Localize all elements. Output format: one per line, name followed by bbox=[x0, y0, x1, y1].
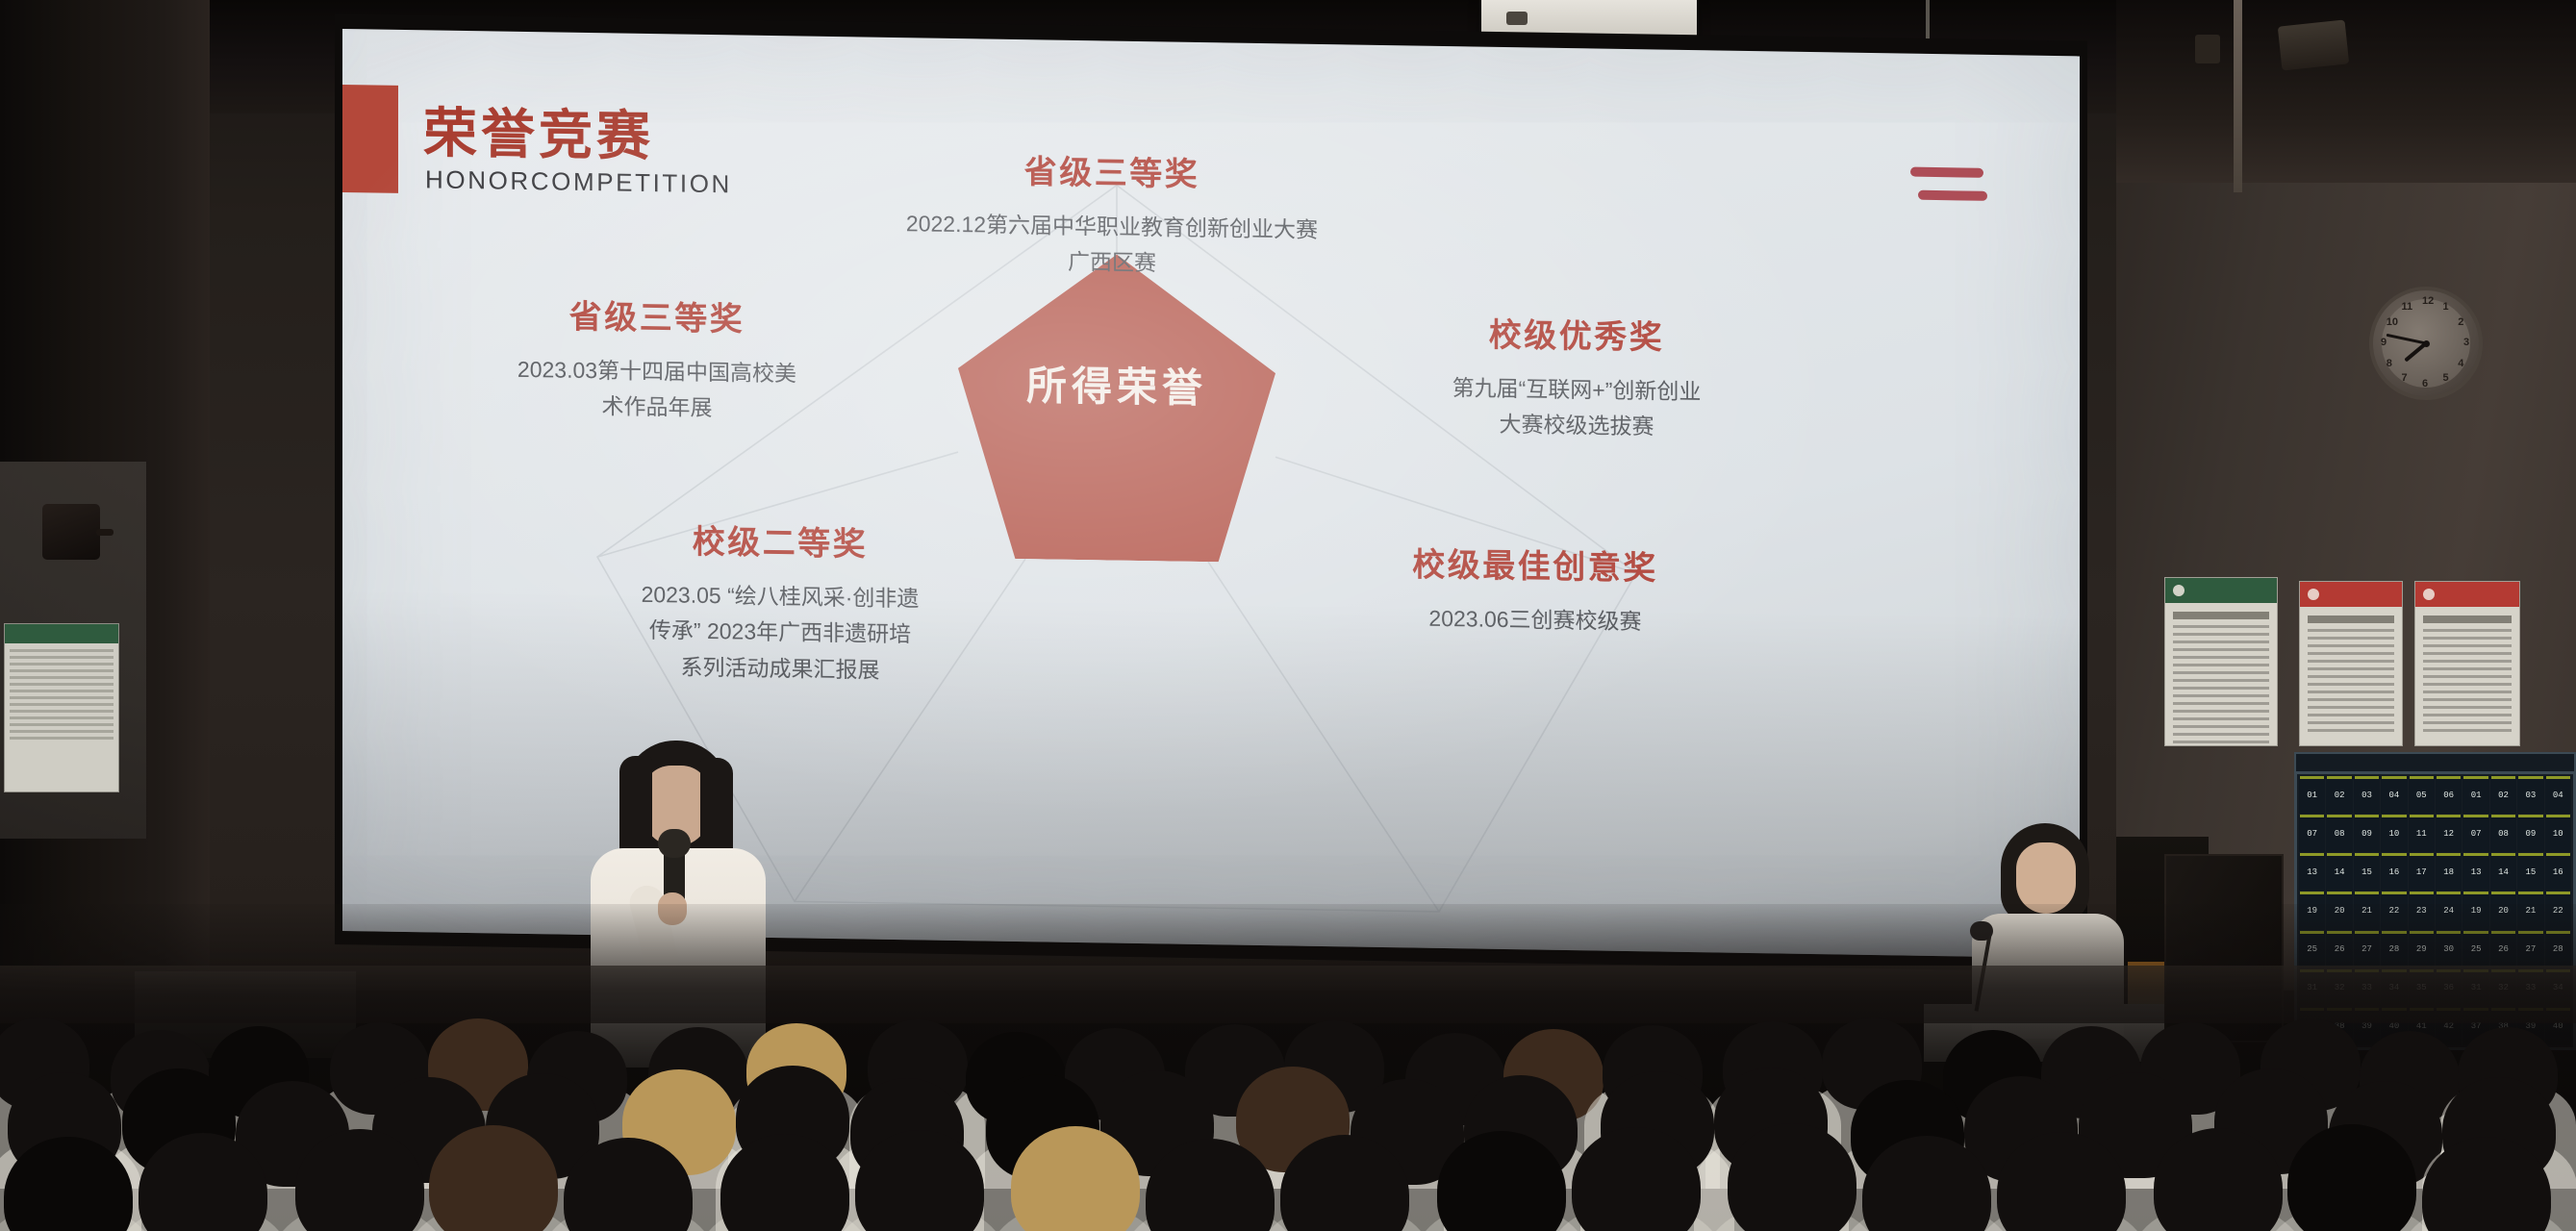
locker-cell[interactable]: 13 bbox=[2299, 853, 2325, 891]
wall-camera-icon bbox=[42, 504, 100, 560]
award-title: 省级三等奖 bbox=[431, 288, 883, 341]
locker-cell[interactable]: 10 bbox=[2381, 815, 2407, 852]
locker-cell[interactable]: 03 bbox=[2517, 776, 2543, 814]
ceiling-fixture-small bbox=[2195, 35, 2220, 63]
projector-lens-icon bbox=[1506, 12, 1528, 25]
award-line: 2023.06三创赛校级赛 bbox=[1314, 599, 1756, 641]
award-node-left: 省级三等奖 2023.03第十四届中国高校美 术作品年展 bbox=[431, 288, 883, 429]
locker-cell[interactable]: 01 bbox=[2462, 776, 2488, 814]
locker-cell[interactable]: 02 bbox=[2326, 776, 2352, 814]
locker-cell[interactable]: 02 bbox=[2490, 776, 2516, 814]
poster-text-lines bbox=[2300, 629, 2402, 732]
locker-cell[interactable]: 15 bbox=[2354, 853, 2380, 891]
locker-cell[interactable]: 09 bbox=[2517, 815, 2543, 852]
locker-cell[interactable]: 07 bbox=[2462, 815, 2488, 852]
award-line: 术作品年展 bbox=[431, 387, 883, 430]
poster-header bbox=[5, 624, 118, 643]
poster-text-lines bbox=[2415, 629, 2519, 732]
award-title: 校级优秀奖 bbox=[1351, 306, 1803, 360]
award-title: 省级三等奖 bbox=[795, 141, 1429, 198]
award-node-right: 校级优秀奖 第九届“互联网+”创新创业 大赛校级选拔赛 bbox=[1351, 306, 1803, 447]
clock-numeral: 9 bbox=[2381, 337, 2387, 348]
left-wall-poster bbox=[4, 623, 119, 792]
ceiling-fixture bbox=[2278, 19, 2349, 70]
locker-cell[interactable]: 14 bbox=[2490, 853, 2516, 891]
right-wall-poster-b bbox=[2414, 581, 2520, 746]
locker-cell[interactable]: 07 bbox=[2299, 815, 2325, 852]
right-wall-poster-green bbox=[2164, 577, 2278, 746]
locker-cell[interactable]: 04 bbox=[2381, 776, 2407, 814]
right-wall-poster-a bbox=[2299, 581, 2403, 746]
locker-cell[interactable]: 08 bbox=[2490, 815, 2516, 852]
clock-center-pin bbox=[2423, 340, 2430, 347]
award-title: 校级最佳创意奖 bbox=[1314, 537, 1756, 590]
locker-cell[interactable]: 11 bbox=[2409, 815, 2435, 852]
locker-cell[interactable]: 13 bbox=[2462, 853, 2488, 891]
clock-numeral: 1 bbox=[2443, 301, 2449, 313]
audience-area bbox=[0, 904, 2576, 1231]
clock-numeral: 5 bbox=[2443, 372, 2449, 384]
locker-cell[interactable]: 14 bbox=[2326, 853, 2352, 891]
locker-cell[interactable]: 17 bbox=[2409, 853, 2435, 891]
locker-cell[interactable]: 16 bbox=[2545, 853, 2571, 891]
clock-numeral: 12 bbox=[2422, 295, 2434, 307]
poster-title-bar bbox=[2173, 612, 2269, 619]
poster-body-lines bbox=[5, 643, 118, 749]
poster-header bbox=[2300, 582, 2402, 607]
locker-cell[interactable]: 04 bbox=[2545, 776, 2571, 814]
locker-cell[interactable]: 16 bbox=[2381, 853, 2407, 891]
clock-numeral: 4 bbox=[2458, 358, 2463, 369]
host-face bbox=[2016, 842, 2076, 914]
poster-header bbox=[2165, 578, 2277, 603]
award-node-bottom-left: 校级二等奖 2023.05 “绘八桂风采·创非遗 传承” 2023年广西非遗研培… bbox=[525, 513, 1035, 691]
clock-numeral: 3 bbox=[2463, 337, 2469, 348]
wall-clock: 121234567891011 bbox=[2369, 287, 2483, 400]
locker-cell[interactable]: 18 bbox=[2436, 853, 2462, 891]
locker-cell[interactable]: 05 bbox=[2409, 776, 2435, 814]
locker-cell[interactable]: 10 bbox=[2545, 815, 2571, 852]
award-title: 校级二等奖 bbox=[525, 513, 1035, 567]
locker-cell[interactable]: 06 bbox=[2436, 776, 2462, 814]
locker-cell[interactable]: 12 bbox=[2436, 815, 2462, 852]
microphone-head-icon bbox=[658, 829, 691, 858]
left-wall bbox=[0, 0, 210, 991]
poster-text-lines bbox=[2165, 625, 2277, 743]
lecture-hall-scene: 121234567891011 010203040506010203040708… bbox=[0, 0, 2576, 1231]
locker-cell[interactable]: 01 bbox=[2299, 776, 2325, 814]
right-wall-upper bbox=[2116, 0, 2576, 183]
clock-numeral: 6 bbox=[2422, 378, 2428, 389]
poster-title-bar bbox=[2308, 615, 2394, 623]
pentagon-center-label: 所得荣誉 bbox=[958, 352, 1275, 415]
poster-header bbox=[2415, 582, 2519, 607]
clock-numeral: 11 bbox=[2402, 301, 2413, 313]
poster-title-bar bbox=[2423, 615, 2512, 623]
clock-numeral: 8 bbox=[2387, 358, 2392, 369]
locker-cell[interactable]: 08 bbox=[2326, 815, 2352, 852]
ceiling-rail bbox=[2234, 0, 2242, 192]
award-line: 大赛校级选拔赛 bbox=[1351, 405, 1803, 448]
locker-board-header bbox=[2294, 752, 2576, 771]
locker-cell[interactable]: 15 bbox=[2517, 853, 2543, 891]
award-node-bottom-right: 校级最佳创意奖 2023.06三创赛校级赛 bbox=[1314, 537, 1756, 641]
clock-numeral: 2 bbox=[2458, 316, 2463, 328]
clock-numeral: 10 bbox=[2387, 316, 2398, 328]
locker-cell[interactable]: 09 bbox=[2354, 815, 2380, 852]
locker-cell[interactable]: 03 bbox=[2354, 776, 2380, 814]
clock-numeral: 7 bbox=[2402, 372, 2408, 384]
award-node-top: 省级三等奖 2022.12第六届中华职业教育创新创业大赛 广西区赛 bbox=[795, 141, 1429, 286]
